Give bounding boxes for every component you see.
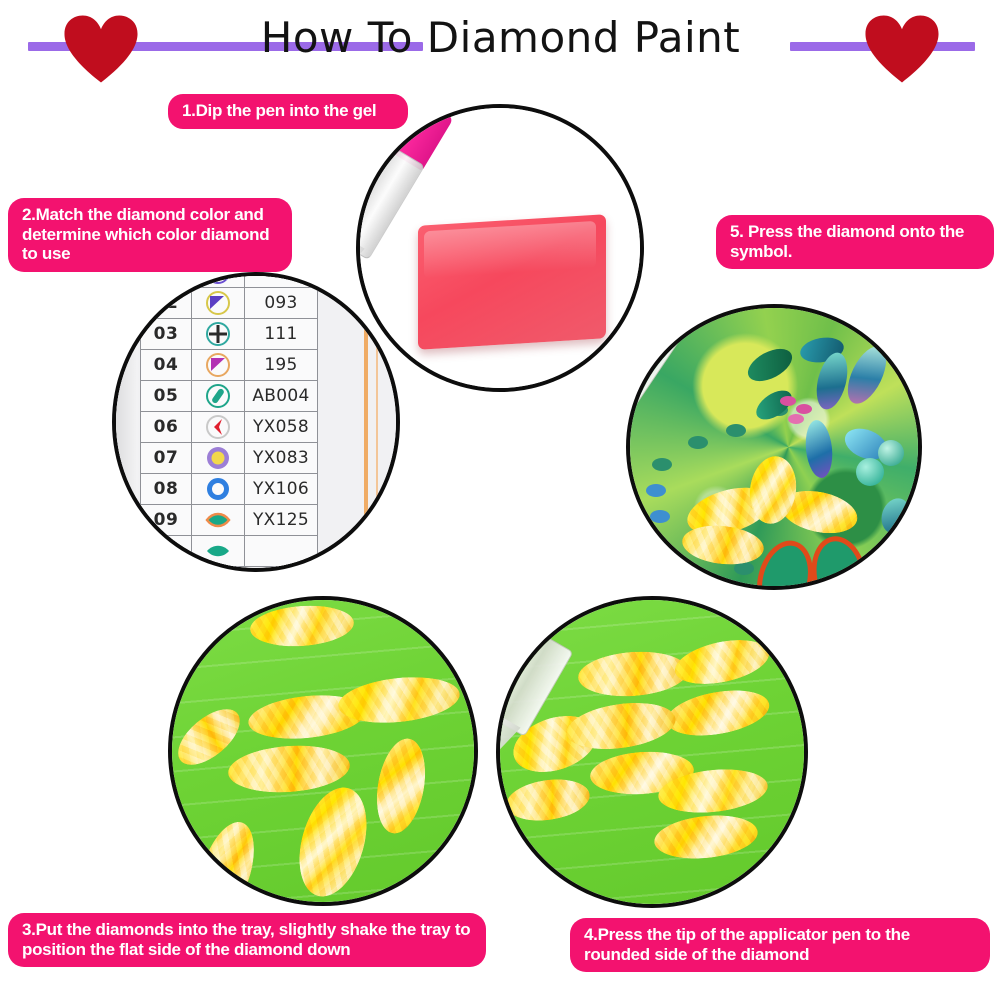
legend-no: 02 <box>141 288 192 319</box>
legend-symbol <box>192 272 245 288</box>
legend-symbol <box>192 505 245 536</box>
table-row <box>141 536 318 567</box>
legend-no: 03 <box>141 319 192 350</box>
page-header: How To Diamond Paint <box>0 0 1001 90</box>
triangle-upper-left-icon <box>205 352 231 378</box>
double-dot-circle-icon <box>205 272 231 285</box>
triangle-upper-left-icon <box>205 290 231 316</box>
table-row: 02 028 <box>141 272 318 288</box>
step-2-photo: 02 028 02 093 <box>112 272 400 572</box>
legend-code: YX125 <box>245 505 318 536</box>
step-1-label: 1.Dip the pen into the gel <box>168 94 408 129</box>
table-row: 07 YX083 <box>141 443 318 474</box>
step-3-label: 3.Put the diamonds into the tray, slight… <box>8 913 486 967</box>
step-3-photo <box>168 596 478 906</box>
legend-code: AB004 <box>245 381 318 412</box>
table-row: 02 093 <box>141 288 318 319</box>
legend-no <box>141 536 192 567</box>
legend-symbol <box>192 443 245 474</box>
legend-no: 08 <box>141 474 192 505</box>
legend-code: 093 <box>245 288 318 319</box>
table-row: 05 AB004 <box>141 381 318 412</box>
legend-symbol <box>192 288 245 319</box>
step-2-label: 2.Match the diamond color and determine … <box>8 198 292 272</box>
filled-dot-icon <box>205 445 231 471</box>
legend-symbol <box>192 381 245 412</box>
step-4-label: 4.Press the tip of the applicator pen to… <box>570 918 990 972</box>
legend-code: YX106 <box>245 474 318 505</box>
gel-pad <box>418 214 606 349</box>
table-row: 08 YX106 <box>141 474 318 505</box>
legend-no: 05 <box>141 381 192 412</box>
legend-no: 04 <box>141 350 192 381</box>
legend-no: 02 <box>141 272 192 288</box>
table-row: 03 111 <box>141 319 318 350</box>
legend-code <box>245 536 318 567</box>
legend-code: YX083 <box>245 443 318 474</box>
table-row: 06 YX058 <box>141 412 318 443</box>
step-5-label: 5. Press the diamond onto the symbol. <box>716 215 994 269</box>
table-row: 09 YX125 <box>141 505 318 536</box>
left-chevron-icon <box>205 414 231 440</box>
step-5-photo <box>626 304 922 590</box>
legend-no: 09 <box>141 505 192 536</box>
color-legend-table: 02 028 02 093 <box>140 272 318 567</box>
legend-symbol <box>192 412 245 443</box>
open-ring-icon <box>205 476 231 502</box>
diagonal-capsule-icon <box>205 383 231 409</box>
legend-code: 028 <box>245 272 318 288</box>
legend-code: YX058 <box>245 412 318 443</box>
step-4-photo <box>496 596 808 908</box>
table-row: 04 195 <box>141 350 318 381</box>
leaf-marquise-icon <box>205 538 231 564</box>
legend-symbol <box>192 536 245 567</box>
legend-no: 07 <box>141 443 192 474</box>
page-title: How To Diamond Paint <box>0 16 1001 60</box>
legend-symbol <box>192 319 245 350</box>
plus-cross-icon <box>205 321 231 347</box>
legend-symbol <box>192 474 245 505</box>
legend-no: 06 <box>141 412 192 443</box>
legend-code: 111 <box>245 319 318 350</box>
legend-symbol <box>192 350 245 381</box>
step-1-photo <box>356 104 644 392</box>
leaf-marquise-icon <box>205 507 231 533</box>
legend-code: 195 <box>245 350 318 381</box>
